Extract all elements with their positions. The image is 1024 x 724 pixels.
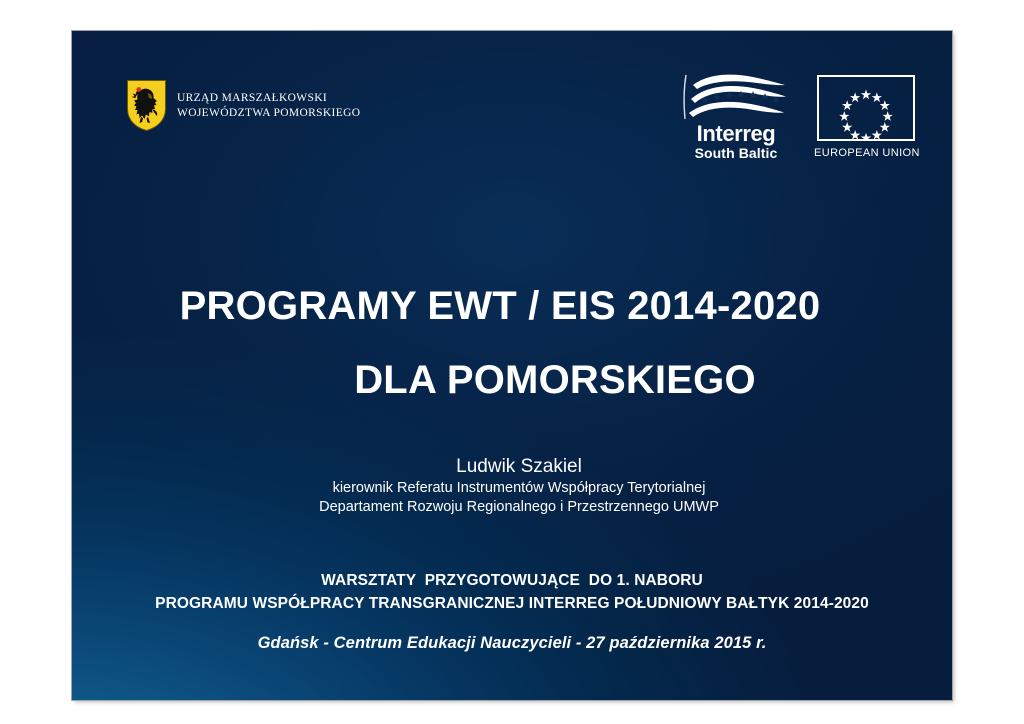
logo-row: URZĄD MARSZAŁKOWSKI WOJEWÓDZTWA POMORSKI… [72,31,952,181]
eu-label: EUROPEAN UNION [814,147,918,159]
presentation-slide: URZĄD MARSZAŁKOWSKI WOJEWÓDZTWA POMORSKI… [72,31,952,700]
interreg-subtitle: South Baltic [676,145,796,161]
venue-and-date: Gdańsk - Centrum Edukacji Nauczycieli - … [72,634,952,653]
workshop-line-2: PROGRAMU WSPÓŁPRACY TRANSGRANICZNEJ INTE… [72,592,952,615]
umwp-wordmark-line1: URZĄD MARSZAŁKOWSKI [177,91,360,106]
pomorskie-coat-of-arms-icon [126,79,167,132]
umwp-logo: URZĄD MARSZAŁKOWSKI WOJEWÓDZTWA POMORSKI… [126,79,360,132]
title-line-1: PROGRAMY EWT / EIS 2014-2020 [72,269,952,343]
eu-flag-box [817,75,915,141]
workshop-line-1: WARSZTATY PRZYGOTOWUJĄCE DO 1. NABORU [72,569,952,592]
european-union-stars-icon [819,77,913,140]
author-role-line2: Departament Rozwoju Regionalnego i Przes… [86,498,952,517]
slide-canvas: URZĄD MARSZAŁKOWSKI WOJEWÓDZTWA POMORSKI… [72,31,952,700]
umwp-wordmark-line2: WOJEWÓDZTWA POMORSKIEGO [177,106,360,121]
slide-title: PROGRAMY EWT / EIS 2014-2020 DLA POMORSK… [72,269,952,417]
workshop-block: WARSZTATY PRZYGOTOWUJĄCE DO 1. NABORU PR… [72,569,952,615]
umwp-wordmark: URZĄD MARSZAŁKOWSKI WOJEWÓDZTWA POMORSKI… [177,91,360,120]
interreg-logo: Interreg South Baltic [676,71,796,161]
interreg-name: Interreg [676,122,796,145]
eu-logo: EUROPEAN UNION [814,75,918,159]
title-line-2: DLA POMORSKIEGO [72,343,952,417]
author-role-line1: kierownik Referatu Instrumentów Współpra… [86,479,952,498]
author-block: Ludwik Szakiel kierownik Referatu Instru… [72,455,952,517]
interreg-flag-icon [681,71,791,121]
author-name: Ludwik Szakiel [86,455,952,479]
